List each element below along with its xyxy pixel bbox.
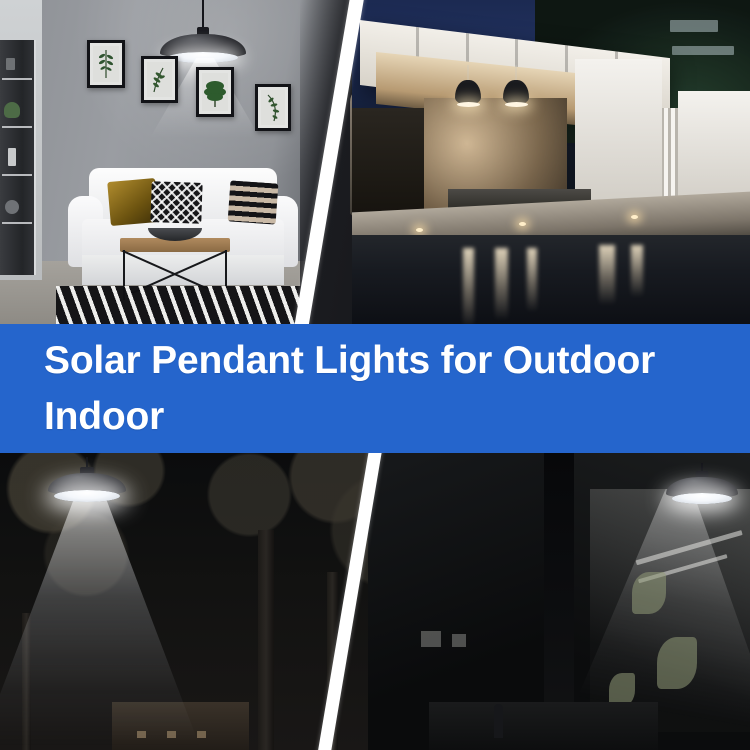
pedestrian [494,704,503,738]
deck-spotlight [519,222,526,226]
pendant-lamp-icon [455,65,481,105]
deck-spotlight [631,215,638,219]
pillow-patterned [150,181,202,224]
panel-pool-patio [352,0,750,326]
window [421,631,441,647]
hanging-plant [632,572,666,614]
framed-print [196,67,234,117]
hanging-plant [657,637,697,689]
shelving-unit [0,40,36,275]
product-banner-image: Solar Pendant Lights for Outdoor Indoor [0,0,750,750]
framed-print [141,56,178,103]
hillside-house [672,46,734,55]
interior-room [352,108,432,212]
water-reflection [495,248,508,320]
water-reflection [527,248,537,312]
fern-leaf-icon [98,49,114,79]
alley-road [429,702,658,750]
swimming-pool [352,235,750,326]
tree-print-icon [202,77,228,107]
pillow-striped [228,180,279,225]
pendant-lamp-icon [503,65,529,105]
pendant-lamp-icon [48,457,126,513]
water-reflection [463,248,474,326]
hillside-house [670,20,718,32]
framed-print [255,84,291,131]
pendant-lamp-icon [666,463,738,517]
fern-leaf-icon [263,93,283,123]
area-rug [56,286,316,326]
water-reflection [599,245,615,305]
fern-leaf-icon [150,66,170,94]
framed-print [87,40,125,88]
window [452,634,466,647]
tree-trunk [258,530,274,750]
panel-night-alley [368,453,750,750]
water-reflection [631,245,643,297]
deck-spotlight [416,228,423,232]
headline-banner: Solar Pendant Lights for Outdoor Indoor [0,324,750,453]
headline-text: Solar Pendant Lights for Outdoor Indoor [44,333,724,445]
